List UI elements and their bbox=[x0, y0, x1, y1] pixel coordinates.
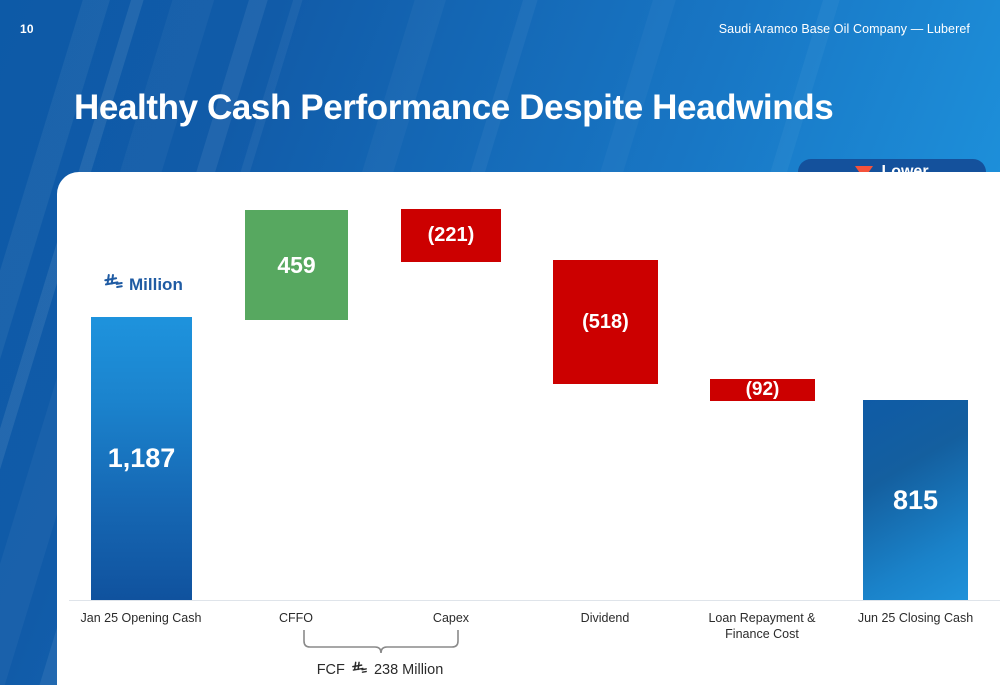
saudi-riyal-icon bbox=[351, 660, 368, 681]
axis-baseline bbox=[69, 600, 1000, 601]
category-label-cffo: CFFO bbox=[246, 610, 346, 626]
saudi-riyal-icon bbox=[103, 272, 124, 298]
page-title: Healthy Cash Performance Despite Headwin… bbox=[74, 88, 833, 128]
currency-unit-label: Million bbox=[129, 275, 183, 295]
bar-jan-25-opening-cash[interactable]: 1,187 bbox=[91, 317, 192, 600]
bar-capex[interactable]: (221) bbox=[401, 209, 501, 262]
fcf-brace bbox=[303, 629, 459, 660]
bar-value-label: (221) bbox=[428, 224, 475, 247]
category-label-jun-25-closing-cash: Jun 25 Closing Cash bbox=[838, 610, 993, 626]
category-label-dividend: Dividend bbox=[555, 610, 655, 626]
bar-value-label: (92) bbox=[746, 379, 780, 401]
chart-panel: Million 1,187 459 (221) (518) (92) 815 bbox=[57, 172, 1000, 685]
fcf-label: FCF bbox=[317, 662, 345, 678]
page-number: 10 bbox=[20, 22, 34, 36]
bar-value-label: 1,187 bbox=[108, 443, 176, 474]
currency-unit-note: Million bbox=[103, 272, 183, 298]
fcf-value: 238 Million bbox=[374, 662, 443, 678]
company-name: Saudi Aramco Base Oil Company — Luberef bbox=[719, 22, 970, 36]
plot-area: Million 1,187 459 (221) (518) (92) 815 bbox=[57, 172, 1000, 685]
category-label-jan-25-opening-cash: Jan 25 Opening Cash bbox=[61, 610, 221, 626]
bar-value-label: 459 bbox=[277, 252, 315, 279]
category-label-capex: Capex bbox=[401, 610, 501, 626]
fcf-annotation: FCF 238 Million bbox=[255, 660, 505, 681]
bar-loan-repayment-finance-cost[interactable]: (92) bbox=[710, 379, 815, 401]
bar-cffo[interactable]: 459 bbox=[245, 210, 348, 320]
bar-dividend[interactable]: (518) bbox=[553, 260, 658, 384]
bar-jun-25-closing-cash[interactable]: 815 bbox=[863, 400, 968, 600]
bar-value-label: (518) bbox=[582, 311, 629, 334]
slide: 10 Saudi Aramco Base Oil Company — Luber… bbox=[0, 0, 1000, 685]
category-label-loan-repayment-finance-cost: Loan Repayment & Finance Cost bbox=[692, 610, 832, 642]
bar-value-label: 815 bbox=[893, 485, 938, 516]
